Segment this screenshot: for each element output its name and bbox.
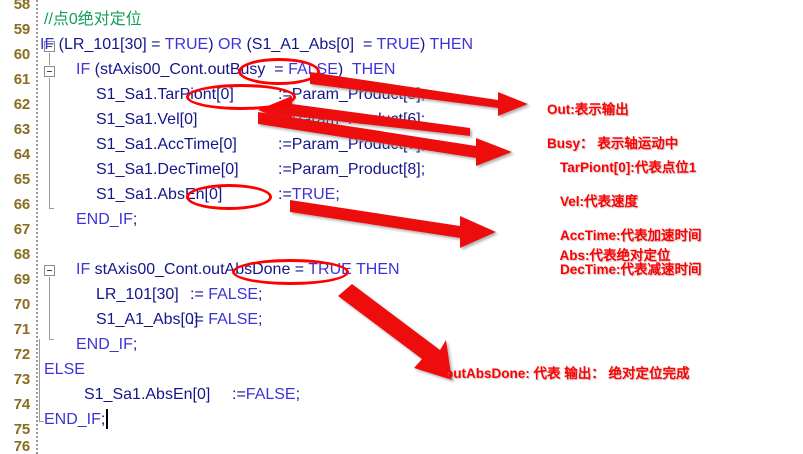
code-line-64-rhs[interactable]: :=Param_Product[7]; xyxy=(278,132,425,157)
note-out-busy-line-1: Out:表示输出 xyxy=(547,102,629,117)
highlight-ellipse-tarpiont xyxy=(186,84,296,110)
line-number: 68 xyxy=(0,242,30,267)
note-params-line-1: TarPiont[0]:代表点位1 xyxy=(560,160,696,175)
fold-toggle-line-69[interactable] xyxy=(44,265,55,276)
line-number: 70 xyxy=(0,292,30,317)
line-number: 76 xyxy=(0,434,30,454)
code-line-60[interactable]: IF (LR_101[30] = TRUE) OR (S1_A1_Abs[0] … xyxy=(40,32,473,57)
fold-end-tick-72 xyxy=(49,339,54,340)
line-number: 74 xyxy=(0,392,30,417)
code-line-59-comment[interactable]: //点0绝对定位 xyxy=(44,7,142,32)
code-line-73[interactable]: ELSE xyxy=(44,357,85,382)
code-line-74-rhs[interactable]: :=FALSE; xyxy=(232,382,300,407)
line-number: 62 xyxy=(0,92,30,117)
line-number: 59 xyxy=(0,17,30,42)
code-line-70-lhs[interactable]: LR_101[30] xyxy=(96,282,179,307)
note-abs: Abs:代表绝对定位 xyxy=(545,230,671,281)
code-line-61[interactable]: IF (stAxis00_Cont.outBusy = FALSE) THEN xyxy=(76,57,395,82)
code-line-65-rhs[interactable]: :=Param_Product[8]; xyxy=(278,157,425,182)
code-line-66-rhs[interactable]: :=TRUE; xyxy=(278,182,340,207)
note-absdone: outAbsDone: 代表 输出： 绝对定位完成 xyxy=(430,348,690,399)
code-line-62-rhs[interactable]: :=Param_Product[5]; xyxy=(278,82,425,107)
code-line-74-lhs[interactable]: S1_Sa1.AbsEn[0] xyxy=(84,382,210,407)
code-line-63-lhs[interactable]: S1_Sa1.Vel[0] xyxy=(96,107,197,132)
line-number: 58 xyxy=(0,0,30,17)
code-line-65-lhs[interactable]: S1_Sa1.DecTime[0] xyxy=(96,157,239,182)
line-number: 66 xyxy=(0,192,30,217)
line-number: 69 xyxy=(0,267,30,292)
code-line-70-rhs[interactable]: := FALSE; xyxy=(190,282,263,307)
fold-guide-else xyxy=(39,339,40,421)
code-line-75[interactable]: END_IF; xyxy=(44,407,105,432)
line-number: 65 xyxy=(0,167,30,192)
gutter-separator xyxy=(36,0,38,454)
line-number: 72 xyxy=(0,342,30,367)
highlight-ellipse-absen xyxy=(186,184,272,210)
line-number: 67 xyxy=(0,217,30,242)
code-line-71-lhs[interactable]: S1_A1_Abs[0] xyxy=(96,307,198,332)
code-line-63-rhs[interactable]: :=Param_Product[6]; xyxy=(278,107,425,132)
note-params-line-2: Vel:代表速度 xyxy=(560,194,638,209)
highlight-ellipse-outbusy xyxy=(238,58,320,85)
note-abs-line-1: Abs:代表绝对定位 xyxy=(560,248,671,263)
line-number: 73 xyxy=(0,367,30,392)
note-absdone-line-1: outAbsDone: 代表 输出： 绝对定位完成 xyxy=(445,366,690,381)
code-line-64-lhs[interactable]: S1_Sa1.AccTime[0] xyxy=(96,132,237,157)
line-number: 71 xyxy=(0,317,30,342)
fold-toggle-line-61[interactable] xyxy=(44,66,55,77)
line-number: 60 xyxy=(0,42,30,67)
code-line-67[interactable]: END_IF; xyxy=(76,207,137,232)
highlight-ellipse-outabsdone xyxy=(232,259,349,285)
code-folding-margin[interactable] xyxy=(42,0,60,454)
fold-guide-inner-2 xyxy=(49,277,50,339)
code-line-71-rhs[interactable]: := FALSE; xyxy=(190,307,263,332)
line-number: 63 xyxy=(0,117,30,142)
line-number: 61 xyxy=(0,67,30,92)
text-caret xyxy=(106,409,108,429)
line-number: 64 xyxy=(0,142,30,167)
fold-end-tick-67 xyxy=(49,208,54,209)
code-line-72[interactable]: END_IF; xyxy=(76,332,137,357)
screenshot-root: 58 59 60 61 62 63 64 65 66 67 68 69 70 7… xyxy=(0,0,803,454)
fold-guide-inner xyxy=(49,78,50,208)
